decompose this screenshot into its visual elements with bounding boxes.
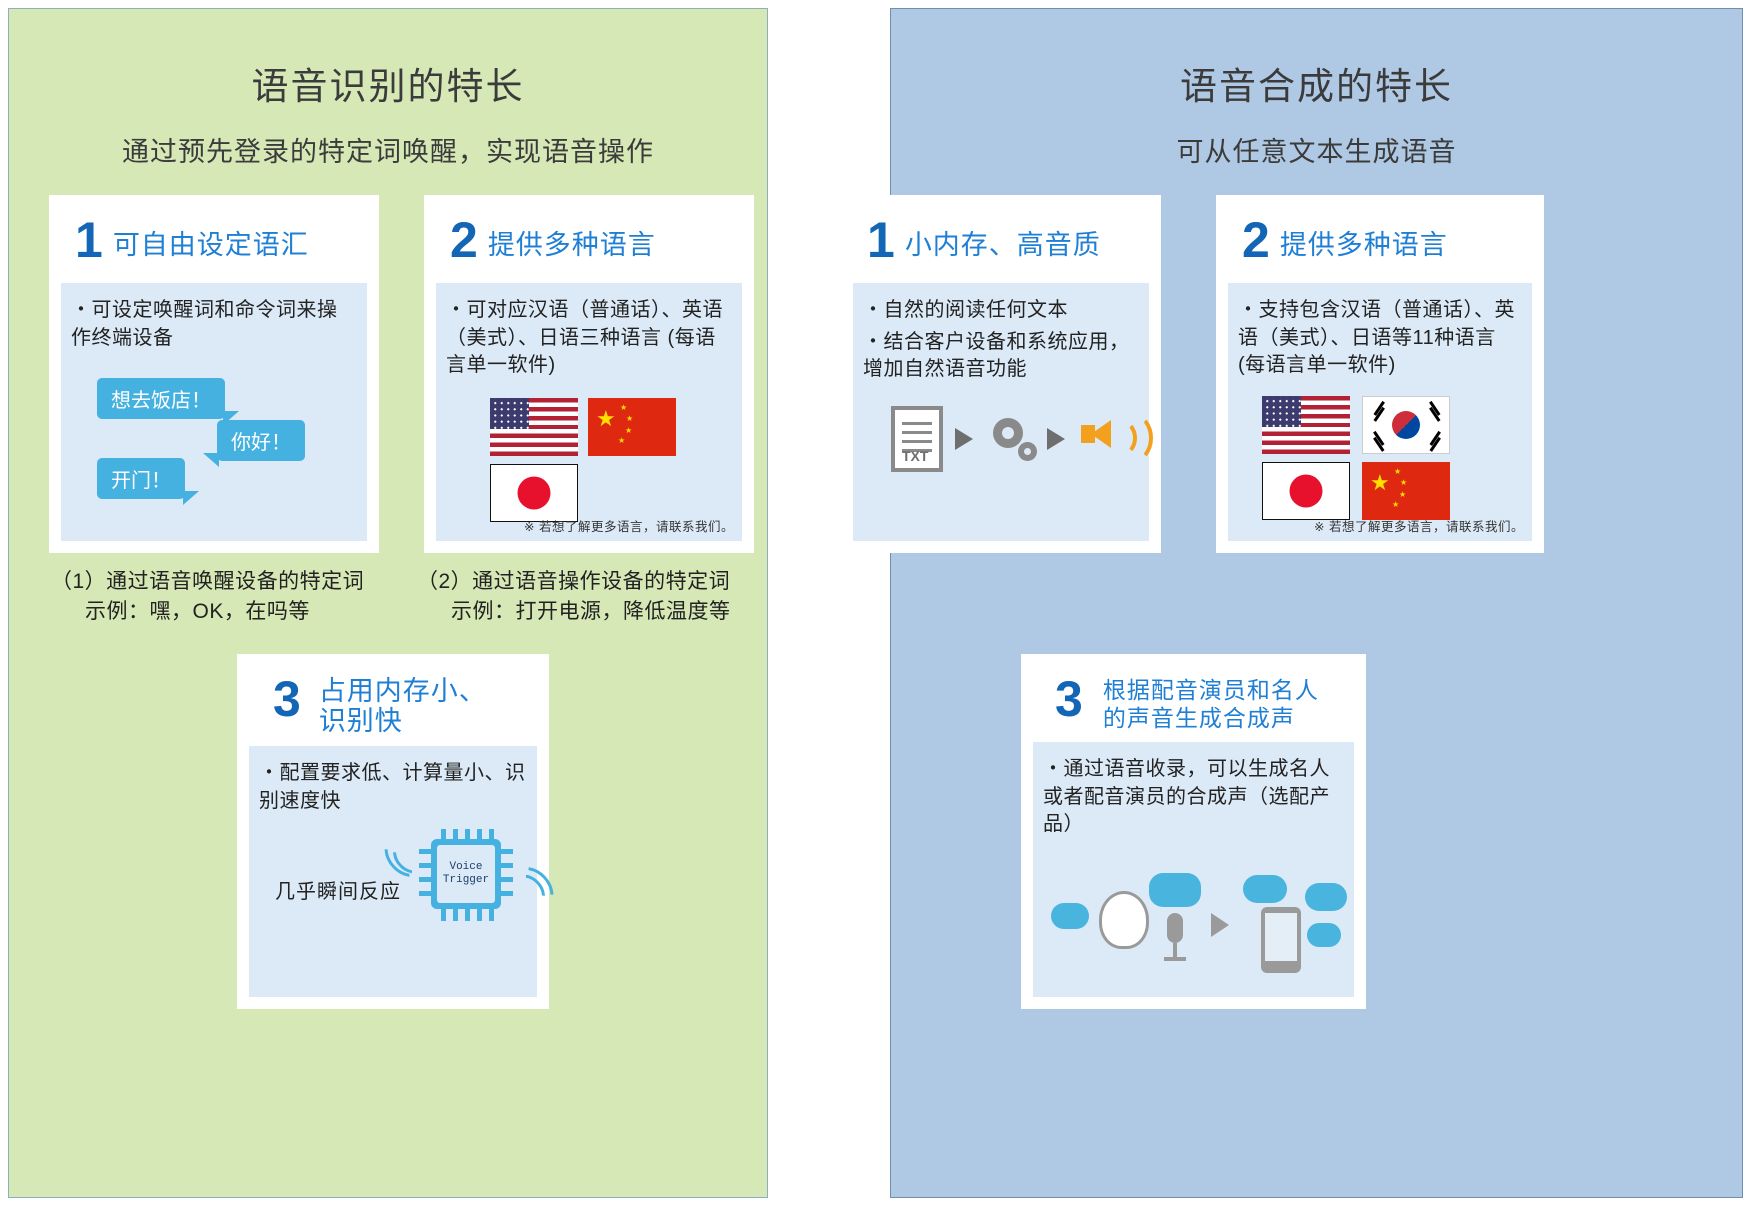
left-card-1-number: 1 bbox=[75, 217, 103, 263]
right-card-3-bullet: ・通过语音收录，可以生成名人或者配音演员的合成声（选配产品） bbox=[1043, 756, 1344, 839]
left-card-2-bullet: ・可对应汉语（普通话）、英语（美式）、日语三种语言 (每语言单一软件) bbox=[446, 297, 732, 380]
right-card-3-title-line2: 的声音生成合成声 bbox=[1103, 704, 1319, 732]
smartphone-screen bbox=[1265, 913, 1297, 961]
left-caption-1-line1: （1）通过语音唤醒设备的特定词 bbox=[51, 570, 364, 593]
right-card-2-body: ・支持包含汉语（普通话）、英语（美式）、日语等11种语言(每语言单一软件) bbox=[1228, 283, 1532, 541]
chat-bubble-1: 想去饭店！ bbox=[97, 378, 225, 419]
chip-text-line2: Trigger bbox=[443, 874, 489, 887]
chip-leg bbox=[441, 909, 446, 921]
left-card-2-number: 2 bbox=[450, 217, 478, 263]
right-panel-subtitle: 可从任意文本生成语音 bbox=[891, 130, 1742, 169]
left-card-3-bullet: ・配置要求低、计算量小、识别速度快 bbox=[259, 760, 527, 815]
txt-document-icon: TXT bbox=[891, 406, 943, 472]
chip-leg bbox=[489, 829, 494, 841]
speech-bubble-icon bbox=[1307, 923, 1341, 947]
arrow-right-icon bbox=[1047, 428, 1065, 450]
right-card-3-header: 3 根据配音演员和名人 的声音生成合成声 bbox=[1033, 666, 1354, 742]
left-panel: 语音识别的特长 通过预先登录的特定词唤醒，实现语音操作 1 可自由设定语汇 ・可… bbox=[8, 8, 768, 1198]
left-card-1-header: 1 可自由设定语汇 bbox=[61, 207, 367, 283]
left-card-2: 2 提供多种语言 ・可对应汉语（普通话）、英语（美式）、日语三种语言 (每语言单… bbox=[424, 195, 754, 553]
left-card-3-body: ・配置要求低、计算量小、识别速度快 几乎瞬间反应 Voice Trigger bbox=[249, 746, 537, 997]
right-card-2-title: 提供多种语言 bbox=[1280, 230, 1448, 260]
left-card-2-flag-group: ★ ★ ★ ★ ★ bbox=[446, 394, 732, 524]
right-card-2-flag-group: ★ ★ ★ ★ ★ bbox=[1238, 394, 1522, 526]
left-card-3-title: 占用内存小、 识别快 bbox=[319, 676, 487, 736]
chip-leg bbox=[453, 829, 458, 841]
left-card-1: 1 可自由设定语汇 ・可设定唤醒词和命令词来操作终端设备 想去饭店！ 你好！ 开… bbox=[49, 195, 379, 553]
chip-leg bbox=[477, 909, 482, 921]
chat-bubble-group: 想去饭店！ 你好！ 开门！ bbox=[71, 378, 357, 488]
slide-root: 语音识别的特长 通过预先登录的特定词唤醒，实现语音操作 1 可自由设定语汇 ・可… bbox=[0, 0, 1751, 1206]
arrow-right-icon bbox=[955, 428, 973, 450]
sound-wave-icon bbox=[1113, 413, 1153, 463]
right-card-1: 1 小内存、高音质 ・自然的阅读任何文本 ・结合客户设备和系统应用，增加自然语音… bbox=[841, 195, 1161, 553]
voice-trigger-chip-graphic: 几乎瞬间反应 Voice Trigger bbox=[259, 823, 527, 953]
chip-leg bbox=[465, 829, 470, 841]
left-caption-1-line2: 示例：嘿，OK，在吗等 bbox=[85, 597, 391, 627]
right-panel-title: 语音合成的特长 bbox=[891, 67, 1742, 108]
left-card-2-title: 提供多种语言 bbox=[488, 230, 656, 260]
left-caption-2-line2: 示例：打开电源，降低温度等 bbox=[451, 597, 762, 627]
right-card-3: 3 根据配音演员和名人 的声音生成合成声 ・通过语音收录，可以生成名人或者配音演… bbox=[1021, 654, 1366, 1009]
microphone-base bbox=[1164, 957, 1186, 961]
right-card-1-title: 小内存、高音质 bbox=[905, 230, 1101, 260]
left-caption-2: （2）通过语音操作设备的特定词 示例：打开电源，降低温度等 bbox=[417, 567, 762, 628]
chip-leg bbox=[489, 909, 494, 921]
speech-bubble-icon bbox=[1243, 875, 1287, 903]
right-card-1-bullet-2: ・结合客户设备和系统应用，增加自然语音功能 bbox=[863, 329, 1139, 384]
cn-flag-icon: ★ ★ ★ ★ ★ bbox=[1362, 462, 1450, 520]
right-card-2-bullet: ・支持包含汉语（普通话）、英语（美式）、日语等11种语言(每语言单一软件) bbox=[1238, 297, 1522, 380]
left-card-2-body: ・可对应汉语（普通话）、英语（美式）、日语三种语言 (每语言单一软件) ★ ★ … bbox=[436, 283, 742, 541]
speech-bubble-icon bbox=[1051, 903, 1089, 929]
left-panel-title: 语音识别的特长 bbox=[9, 67, 767, 108]
chat-bubble-3: 开门！ bbox=[97, 458, 185, 499]
right-card-1-header: 1 小内存、高音质 bbox=[853, 207, 1149, 283]
right-card-1-bullet-1: ・自然的阅读任何文本 bbox=[863, 297, 1139, 325]
gear-icon bbox=[1024, 448, 1031, 455]
right-card-3-number: 3 bbox=[1055, 676, 1083, 722]
right-panel: 语音合成的特长 可从任意文本生成语音 1 小内存、高音质 ・自然的阅读任何文本 … bbox=[890, 8, 1743, 1198]
jp-flag-icon bbox=[490, 464, 578, 522]
chip-leg bbox=[465, 909, 470, 921]
speech-bubble-icon bbox=[1149, 873, 1201, 907]
us-flag-icon bbox=[1262, 396, 1350, 454]
text-to-speech-graphic: TXT bbox=[863, 398, 1139, 508]
txt-document-label: TXT bbox=[902, 448, 928, 464]
chip-text-line1: Voice bbox=[449, 861, 482, 874]
right-card-2-number: 2 bbox=[1242, 217, 1270, 263]
left-card-3: 3 占用内存小、 识别快 ・配置要求低、计算量小、识别速度快 几乎瞬间反应 Vo… bbox=[237, 654, 549, 1009]
chip-leg bbox=[419, 877, 431, 882]
right-card-3-title-line1: 根据配音演员和名人 bbox=[1103, 676, 1319, 704]
right-card-2: 2 提供多种语言 ・支持包含汉语（普通话）、英语（美式）、日语等11种语言(每语… bbox=[1216, 195, 1544, 553]
arrow-right-icon bbox=[1211, 913, 1229, 937]
chat-bubble-2: 你好！ bbox=[217, 420, 305, 461]
right-card-2-header: 2 提供多种语言 bbox=[1228, 207, 1532, 283]
chip-label: 几乎瞬间反应 bbox=[275, 875, 401, 904]
chip-leg bbox=[501, 863, 513, 868]
right-card-3-body: ・通过语音收录，可以生成名人或者配音演员的合成声（选配产品） bbox=[1033, 742, 1354, 997]
left-card-1-title: 可自由设定语汇 bbox=[113, 230, 309, 260]
left-panel-subtitle: 通过预先登录的特定词唤醒，实现语音操作 bbox=[9, 130, 767, 169]
right-card-1-body: ・自然的阅读任何文本 ・结合客户设备和系统应用，增加自然语音功能 TXT bbox=[853, 283, 1149, 541]
gear-icon bbox=[1002, 427, 1014, 439]
left-card-1-bullet: ・可设定唤醒词和命令词来操作终端设备 bbox=[71, 297, 357, 352]
left-caption-2-line1: （2）通过语音操作设备的特定词 bbox=[417, 570, 730, 593]
chip-leg bbox=[477, 829, 482, 841]
jp-flag-icon bbox=[1262, 462, 1350, 520]
left-card-2-header: 2 提供多种语言 bbox=[436, 207, 742, 283]
right-card-1-number: 1 bbox=[867, 217, 895, 263]
right-card-2-note: ※ 若想了解更多语言，请联系我们。 bbox=[1314, 516, 1524, 535]
voice-actor-graphic bbox=[1043, 865, 1344, 985]
left-card-1-body: ・可设定唤醒词和命令词来操作终端设备 想去饭店！ 你好！ 开门！ bbox=[61, 283, 367, 541]
chip-leg bbox=[419, 891, 431, 896]
left-caption-1: （1）通过语音唤醒设备的特定词 示例：嘿，OK，在吗等 bbox=[51, 567, 391, 628]
left-card-3-title-line1: 占用内存小、 bbox=[319, 676, 487, 706]
left-card-3-header: 3 占用内存小、 识别快 bbox=[249, 666, 537, 746]
kr-flag-icon bbox=[1362, 396, 1450, 454]
chip-inner-label: Voice Trigger bbox=[437, 845, 495, 903]
chip-leg bbox=[441, 829, 446, 841]
left-card-2-note: ※ 若想了解更多语言，请联系我们。 bbox=[524, 516, 734, 535]
person-head-icon bbox=[1099, 891, 1149, 949]
microphone-icon bbox=[1167, 913, 1183, 943]
left-card-3-title-line2: 识别快 bbox=[319, 706, 487, 736]
cn-flag-icon: ★ ★ ★ ★ ★ bbox=[588, 398, 676, 456]
us-flag-icon bbox=[490, 398, 578, 456]
speech-bubble-icon bbox=[1305, 883, 1347, 911]
left-card-3-number: 3 bbox=[273, 676, 301, 722]
right-card-3-title: 根据配音演员和名人 的声音生成合成声 bbox=[1103, 676, 1319, 732]
chip-leg bbox=[501, 849, 513, 854]
chip-leg bbox=[453, 909, 458, 921]
